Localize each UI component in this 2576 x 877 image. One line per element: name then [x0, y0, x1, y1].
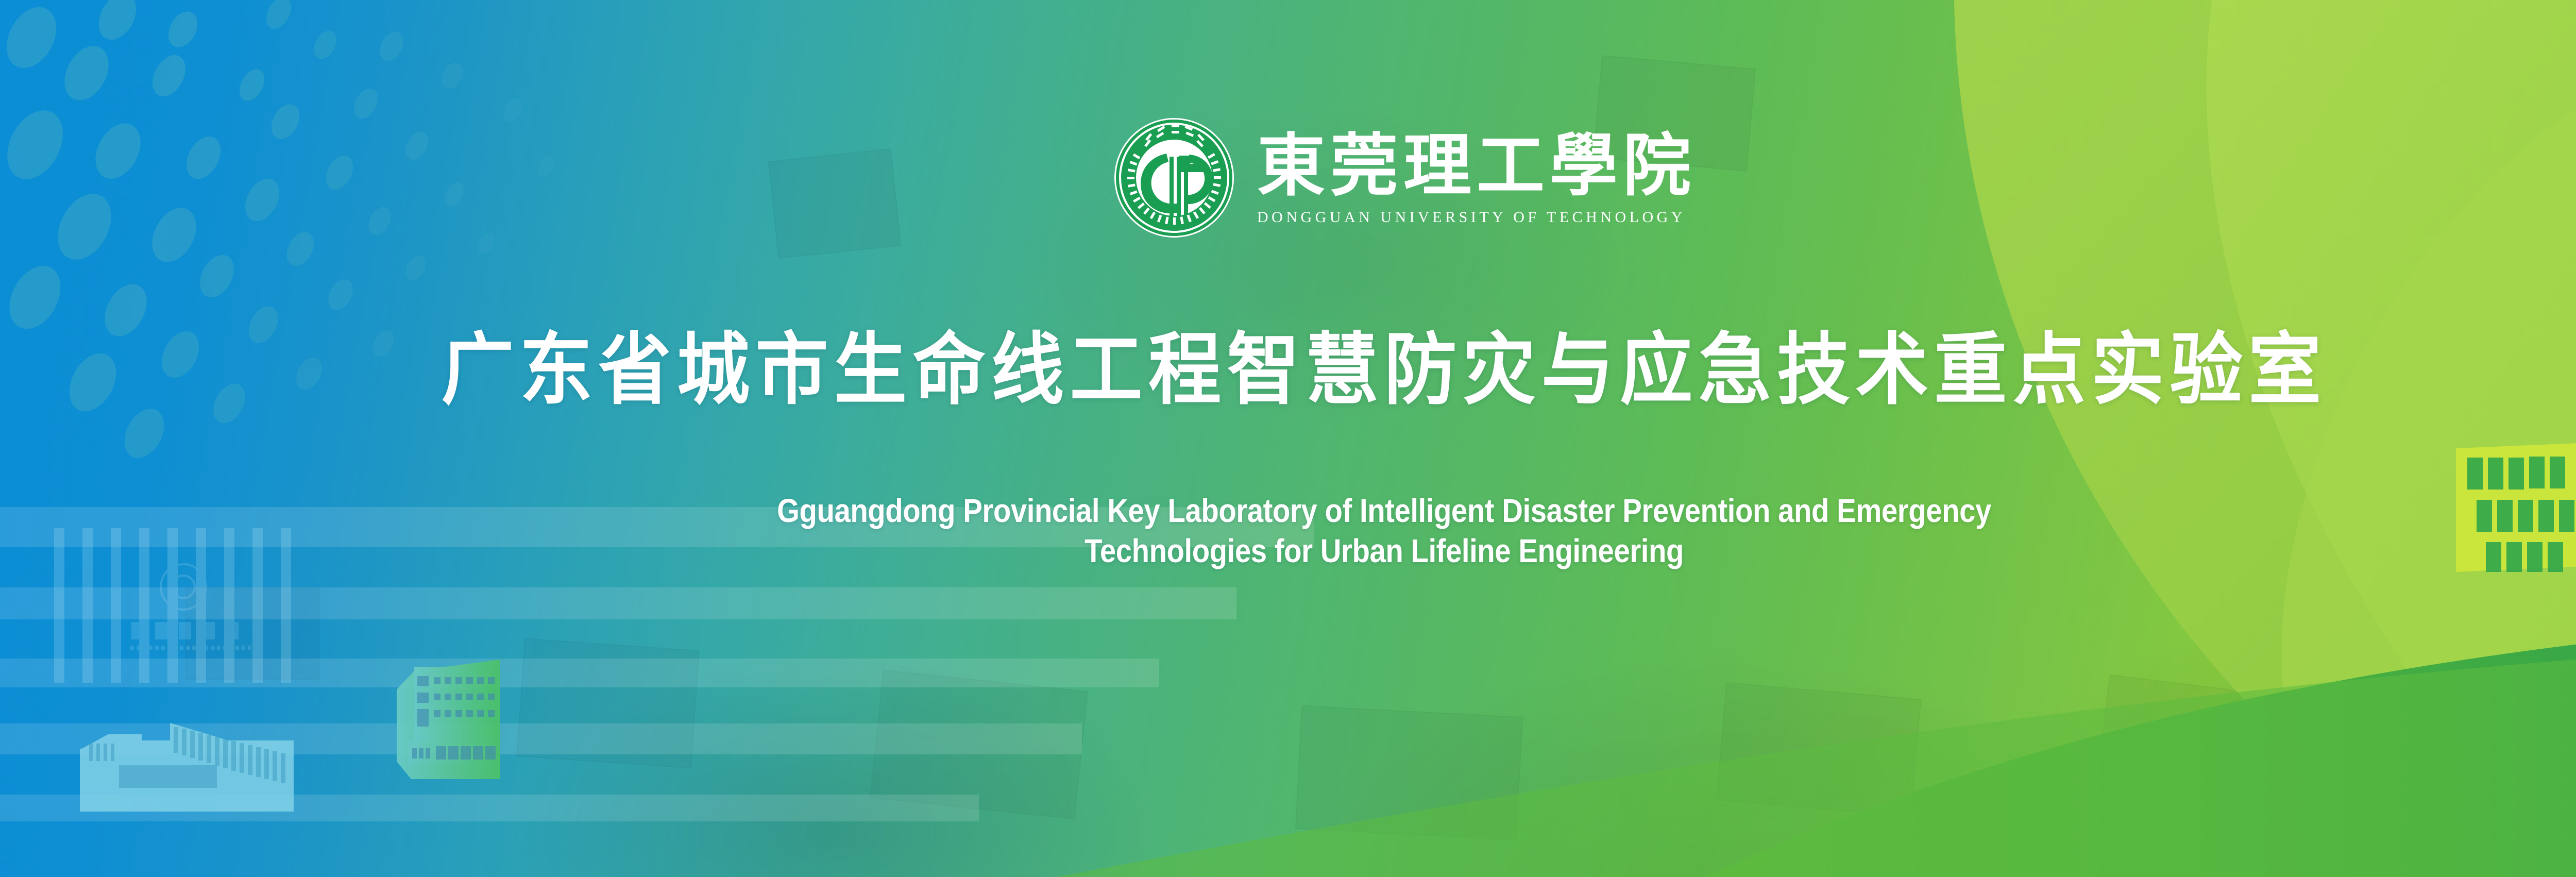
lab-title-en: Gguangdong Provincial Key Laboratory of …	[166, 491, 2576, 571]
university-name-cn: 東莞理工學院	[1257, 132, 1696, 200]
university-lab-banner: 学而知不足 杨振宁	[0, 0, 2576, 877]
university-name-en: DONGGUAN UNIVERSITY OF TECHNOLOGY	[1257, 209, 1696, 226]
lab-title-cn: 广东省城市生命线工程智慧防灾与应急技术重点实验室	[97, 331, 2576, 409]
university-name-block: 東莞理工學院 DONGGUAN UNIVERSITY OF TECHNOLOGY	[1257, 129, 1696, 226]
halftone-dot-pattern	[0, 0, 804, 556]
lab-title-en-line1: Gguangdong Provincial Key Laboratory of …	[777, 492, 1991, 529]
university-seal-icon	[1113, 116, 1235, 239]
lab-title-en-line2: Technologies for Urban Lifeline Engineer…	[166, 531, 2576, 571]
university-logo-lockup: 東莞理工學院 DONGGUAN UNIVERSITY OF TECHNOLOGY	[1113, 111, 1680, 245]
